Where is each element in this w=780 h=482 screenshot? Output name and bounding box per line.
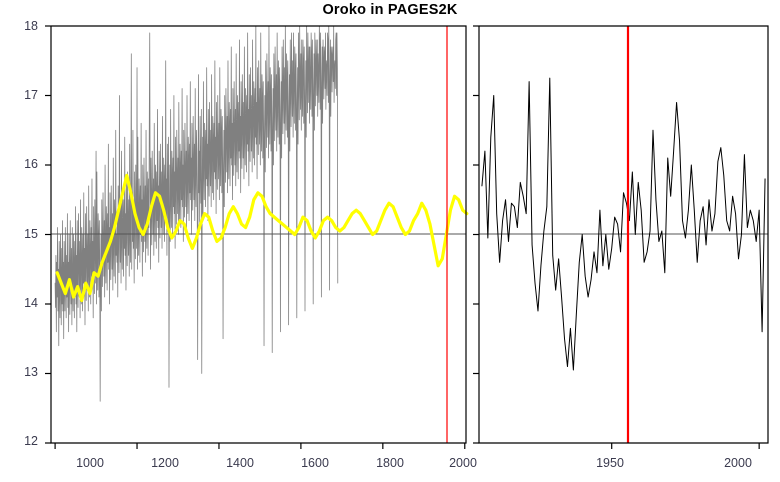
right-y-axis-ticks [473,26,479,443]
left-panel-group [45,26,467,449]
left-raw-series-line [55,26,338,401]
chart-root: Oroko in PAGES2K 18 17 16 15 14 13 12 10… [0,0,780,482]
right-panel-group [473,26,768,449]
right-x-axis-ticks [612,443,759,449]
plot-canvas [0,0,780,482]
left-y-axis-ticks [45,26,51,443]
right-series-line [482,78,765,370]
left-x-axis-ticks [55,443,465,449]
